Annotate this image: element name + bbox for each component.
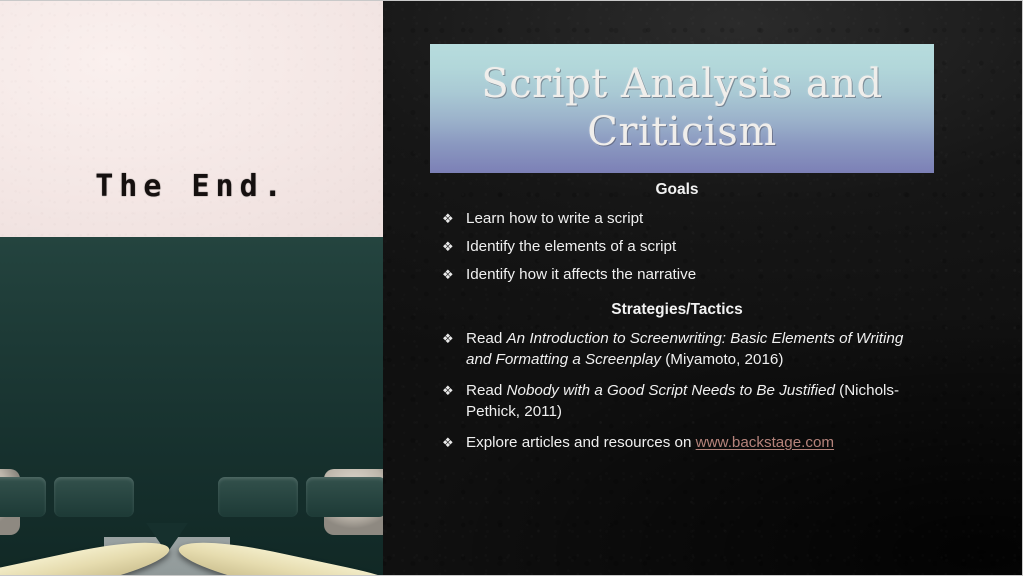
typed-the-end-text: The End. — [0, 169, 383, 204]
bullet-item: ❖Learn how to write a script — [430, 208, 930, 229]
bullet-text: Read Nobody with a Good Script Needs to … — [466, 380, 930, 422]
diamond-bullet-icon: ❖ — [442, 236, 466, 257]
bullet-title-italic: An Introduction to Screenwriting: Basic … — [466, 330, 903, 368]
typewriter-keycap — [54, 477, 134, 517]
typewriter-keycap — [306, 477, 383, 517]
bullet-text: Identify the elements of a script — [466, 236, 930, 257]
bullet-list-1: ❖Learn how to write a script❖Identify th… — [430, 208, 930, 285]
bullet-text: Explore articles and resources on www.ba… — [466, 432, 930, 453]
bullet-text: Read An Introduction to Screenwriting: B… — [466, 328, 930, 370]
typewriter-keycap — [218, 477, 298, 517]
bullet-title-italic: Nobody with a Good Script Needs to Be Ju… — [507, 382, 835, 399]
bullet-item: ❖Read An Introduction to Screenwriting: … — [430, 328, 930, 370]
diamond-bullet-icon: ❖ — [442, 432, 466, 453]
bullet-text: Identify how it affects the narrative — [466, 264, 930, 285]
bullet-item: ❖Identify the elements of a script — [430, 236, 930, 257]
section-heading-2: Strategies/Tactics — [430, 301, 930, 319]
bullet-item: ❖Identify how it affects the narrative — [430, 264, 930, 285]
backstage-link[interactable]: www.backstage.com — [696, 434, 834, 451]
diamond-bullet-icon: ❖ — [442, 380, 466, 401]
bullet-item: ❖Explore articles and resources on www.b… — [430, 432, 930, 453]
bullet-list-2: ❖Read An Introduction to Screenwriting: … — [430, 328, 930, 453]
slide-title: Script Analysis and Criticism — [430, 61, 934, 155]
diamond-bullet-icon: ❖ — [442, 208, 466, 229]
typewriter-photo: The End. — [0, 1, 383, 576]
presentation-slide: The End. Scr — [0, 0, 1023, 576]
slide-title-block: Script Analysis and Criticism — [430, 44, 934, 173]
bullet-item: ❖Read Nobody with a Good Script Needs to… — [430, 380, 930, 422]
diamond-bullet-icon: ❖ — [442, 328, 466, 349]
bullet-text: Learn how to write a script — [466, 208, 930, 229]
slide-body: Goals❖Learn how to write a script❖Identi… — [430, 181, 930, 463]
section-heading-1: Goals — [430, 181, 930, 199]
diamond-bullet-icon: ❖ — [442, 264, 466, 285]
typewriter-keycap — [0, 477, 46, 517]
typewriter-body — [0, 237, 383, 576]
